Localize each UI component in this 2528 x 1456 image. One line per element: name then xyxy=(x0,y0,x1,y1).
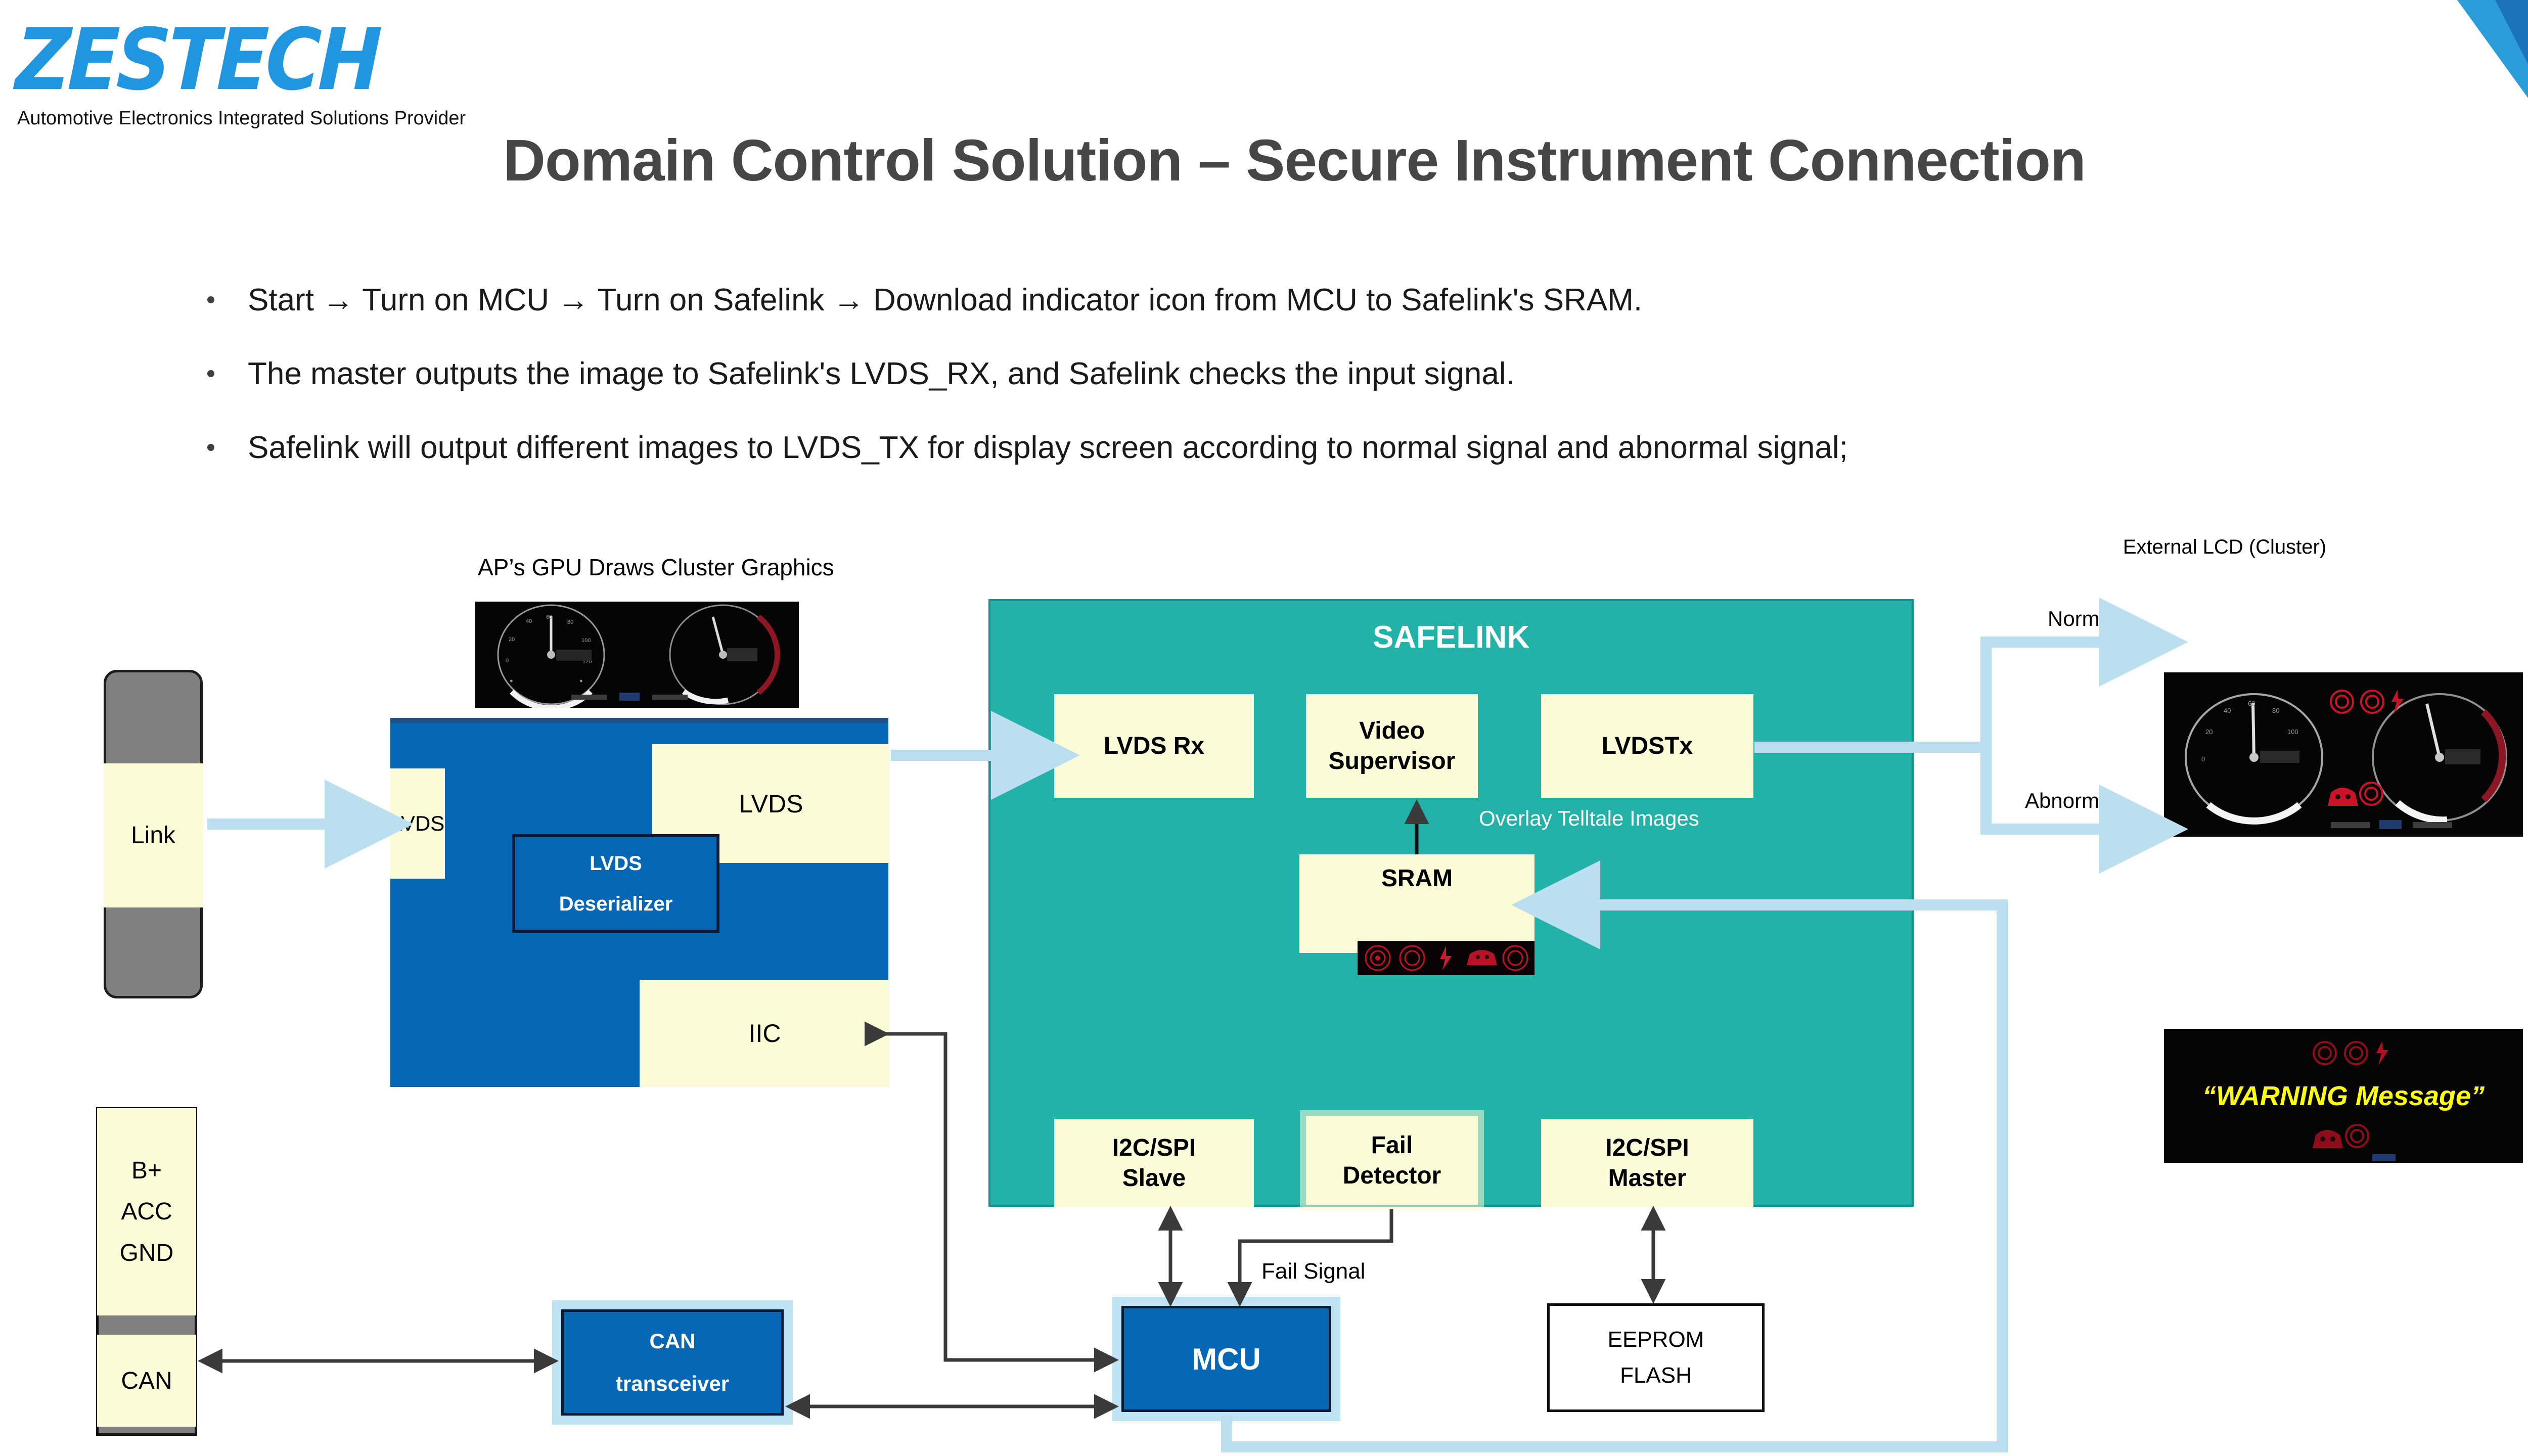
external-lcd-caption: External LCD (Cluster) xyxy=(2123,536,2326,559)
lvds-deserializer-block: LVDS Deserializer xyxy=(512,834,719,933)
i2c-spi-master-block: I2C/SPI Master xyxy=(1541,1119,1753,1207)
list-item: Start → Turn on MCU → Turn on Safelink →… xyxy=(192,283,2467,317)
normal-branch-label: Normal xyxy=(2048,607,2116,631)
can-pin: CAN xyxy=(97,1335,196,1427)
ap-gpu-caption: AP’s GPU Draws Cluster Graphics xyxy=(478,554,834,581)
warning-message-text: “WARNING Message” xyxy=(2202,1080,2485,1112)
svg-text:100: 100 xyxy=(581,638,591,644)
power-pins-group: B+ ACC GND xyxy=(97,1108,196,1315)
bullet-dot-icon xyxy=(207,370,214,377)
abnormal-warning-display: “WARNING Message” xyxy=(2164,1029,2523,1163)
fail-detector-line1: Fail xyxy=(1371,1130,1413,1161)
eeprom-flash-block: EEPROM FLASH xyxy=(1547,1303,1765,1412)
svg-text:40: 40 xyxy=(526,618,532,624)
i2c-spi-master-line2: Master xyxy=(1608,1163,1687,1194)
i2c-spi-slave-line1: I2C/SPI xyxy=(1112,1133,1196,1163)
can-transceiver-line1: CAN xyxy=(650,1320,696,1362)
svg-text:●: ● xyxy=(510,678,513,684)
svg-text:20: 20 xyxy=(509,636,515,643)
deserializer-line2: Deserializer xyxy=(559,884,673,924)
bullet-dot-icon xyxy=(207,296,214,303)
sram-telltale-strip-image xyxy=(1358,941,1534,975)
logo-wordmark: ZESTECH xyxy=(15,18,553,103)
ap-cluster-graphics-image: 406080 20100 0120 ●● xyxy=(475,602,799,708)
i2c-spi-slave-line2: Slave xyxy=(1122,1163,1186,1194)
video-supervisor-line1: Video xyxy=(1359,716,1425,746)
list-item: Safelink will output different images to… xyxy=(192,431,2467,465)
video-supervisor-line2: Supervisor xyxy=(1329,746,1456,777)
deserializer-line1: LVDS xyxy=(590,843,642,884)
svg-text:40: 40 xyxy=(2224,707,2231,714)
ap-iic-block: IIC xyxy=(640,980,890,1087)
svg-text:80: 80 xyxy=(567,619,573,625)
bullet-list: Start → Turn on MCU → Turn on Safelink →… xyxy=(192,283,2467,505)
lvds-tx-block: LVDSTx xyxy=(1541,694,1753,798)
svg-text:80: 80 xyxy=(2272,707,2279,714)
can-transceiver-block: CAN transceiver xyxy=(561,1309,784,1416)
abnormal-branch-label: Abnormal xyxy=(2025,789,2116,813)
sram-label: SRAM xyxy=(1381,864,1453,892)
sram-block: SRAM xyxy=(1299,854,1534,953)
lvds-rx-block: LVDS Rx xyxy=(1054,694,1254,798)
mcu-block: MCU xyxy=(1121,1306,1331,1412)
eeprom-line2: FLASH xyxy=(1620,1358,1692,1393)
eeprom-line1: EEPROM xyxy=(1608,1322,1704,1357)
bullet-dot-icon xyxy=(207,444,214,451)
normal-cluster-display: 406080 20100 0120 xyxy=(2164,672,2523,837)
svg-text:●: ● xyxy=(579,678,583,684)
bullet-text: The master outputs the image to Safelink… xyxy=(248,356,1515,391)
svg-text:20: 20 xyxy=(2205,728,2213,736)
link-connector-pin: Link xyxy=(104,763,203,907)
fail-detector-block: Fail Detector xyxy=(1306,1116,1478,1205)
power-pin-acc: ACC xyxy=(121,1191,172,1233)
svg-text:100: 100 xyxy=(2287,728,2298,736)
svg-text:60: 60 xyxy=(2248,700,2255,707)
company-logo: ZESTECH Automotive Electronics Integrate… xyxy=(17,18,553,119)
power-pin-gnd: GND xyxy=(120,1233,174,1274)
bullet-text: Start → Turn on MCU → Turn on Safelink →… xyxy=(248,283,1642,317)
fail-detector-line2: Detector xyxy=(1343,1161,1441,1191)
mcu-label: MCU xyxy=(1192,1342,1261,1377)
ap-block-top-edge xyxy=(390,718,888,723)
ap-lvds-port: LVDS xyxy=(390,768,445,879)
svg-text:0: 0 xyxy=(2201,755,2205,763)
can-transceiver-line2: transceiver xyxy=(616,1362,729,1405)
overlay-telltale-label: Overlay Telltale Images xyxy=(1479,806,1699,831)
power-pin-bplus: B+ xyxy=(131,1150,162,1192)
i2c-spi-slave-block: I2C/SPI Slave xyxy=(1054,1119,1254,1207)
bullet-text: Safelink will output different images to… xyxy=(248,430,1848,465)
svg-text:0: 0 xyxy=(506,658,509,664)
fail-signal-label: Fail Signal xyxy=(1261,1259,1365,1284)
svg-text:60: 60 xyxy=(546,614,552,620)
safelink-title: SAFELINK xyxy=(988,619,1914,655)
video-supervisor-block: Video Supervisor xyxy=(1306,694,1478,798)
list-item: The master outputs the image to Safelink… xyxy=(192,357,2467,391)
page-title: Domain Control Solution – Secure Instrum… xyxy=(0,126,2528,194)
i2c-spi-master-line1: I2C/SPI xyxy=(1605,1133,1689,1163)
